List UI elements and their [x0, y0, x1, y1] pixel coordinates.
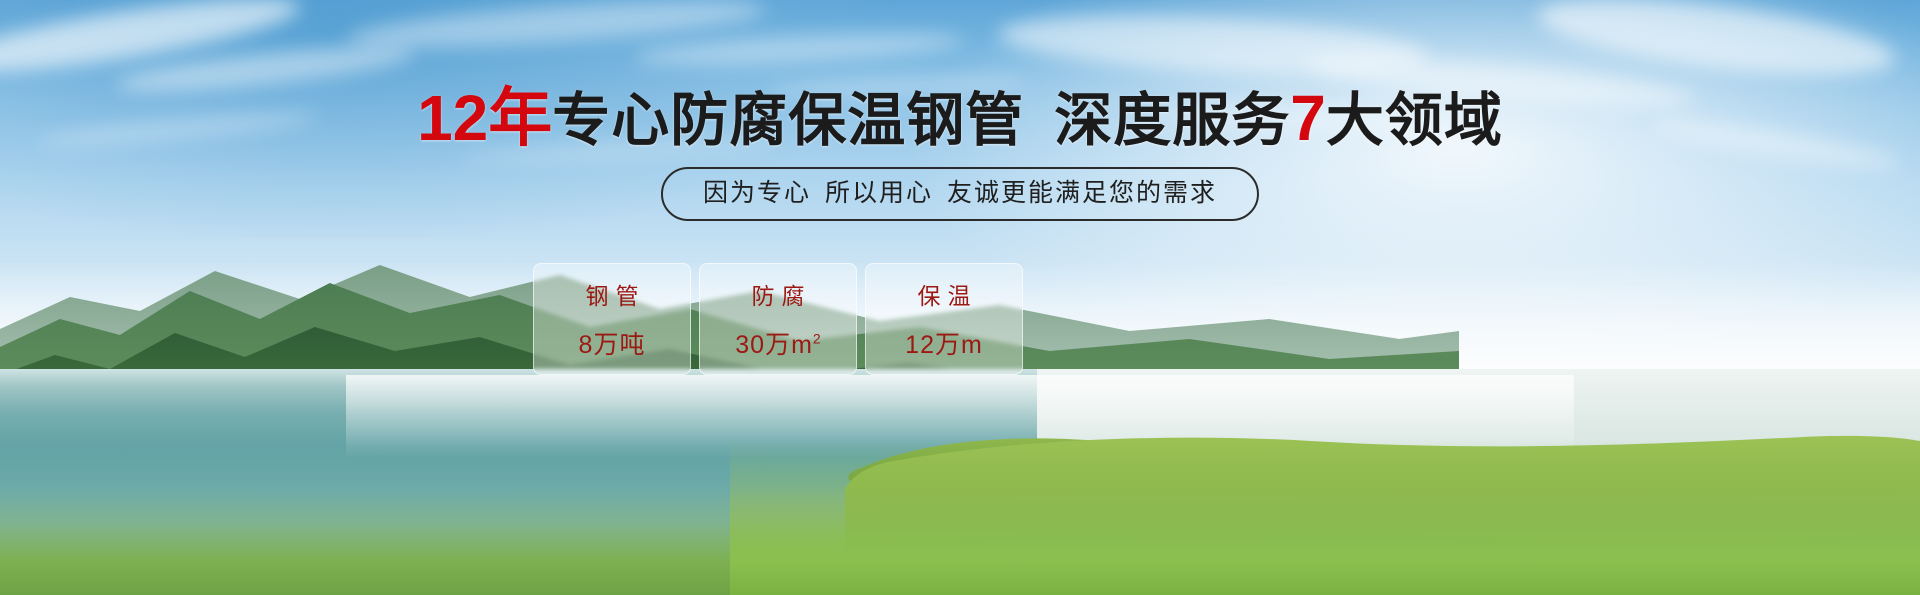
stat-card-value-superscript: 2 — [813, 331, 821, 347]
stat-card-value: 8万吨 — [579, 325, 646, 361]
headline-fields-text: 大领域 — [1326, 88, 1503, 153]
subtitle-part-1: 因为专心 — [703, 179, 811, 207]
headline-years-number: 12 — [417, 82, 488, 154]
stat-card-value-text: 12万m — [905, 331, 983, 359]
stat-card-value: 12万m — [905, 325, 983, 361]
headline-main-text: 专心防腐保温钢管 — [552, 88, 1024, 153]
stat-card-value-text: 8万吨 — [579, 331, 646, 359]
hero-banner: 12年专心防腐保温钢管深度服务7大领域 因为专心所以用心友诚更能满足您的需求 钢… — [0, 0, 1920, 595]
headline-fields-number: 7 — [1290, 82, 1326, 154]
stat-card-insulation: 保温 12万m — [865, 263, 1023, 375]
headline-years-unit: 年 — [488, 82, 552, 154]
subtitle-part-2: 所以用心 — [825, 179, 933, 207]
stat-card-anticorrosion: 防腐 30万m2 — [699, 263, 857, 375]
stat-card-value-text: 30万m — [735, 331, 813, 359]
banner-headline: 12年专心防腐保温钢管深度服务7大领域 — [0, 86, 1920, 150]
stat-card-title: 保温 — [911, 277, 978, 311]
stat-card-group: 钢管 8万吨 防腐 30万m2 保温 12万m — [533, 263, 1023, 375]
stat-card-value: 30万m2 — [735, 325, 820, 361]
subtitle-part-3: 友诚更能满足您的需求 — [947, 179, 1217, 207]
headline-service-text: 深度服务 — [1054, 88, 1290, 153]
stat-card-steel-pipe: 钢管 8万吨 — [533, 263, 691, 375]
stat-card-title: 钢管 — [579, 277, 646, 311]
subtitle-pill: 因为专心所以用心友诚更能满足您的需求 — [661, 167, 1259, 221]
stat-card-title: 防腐 — [745, 277, 812, 311]
